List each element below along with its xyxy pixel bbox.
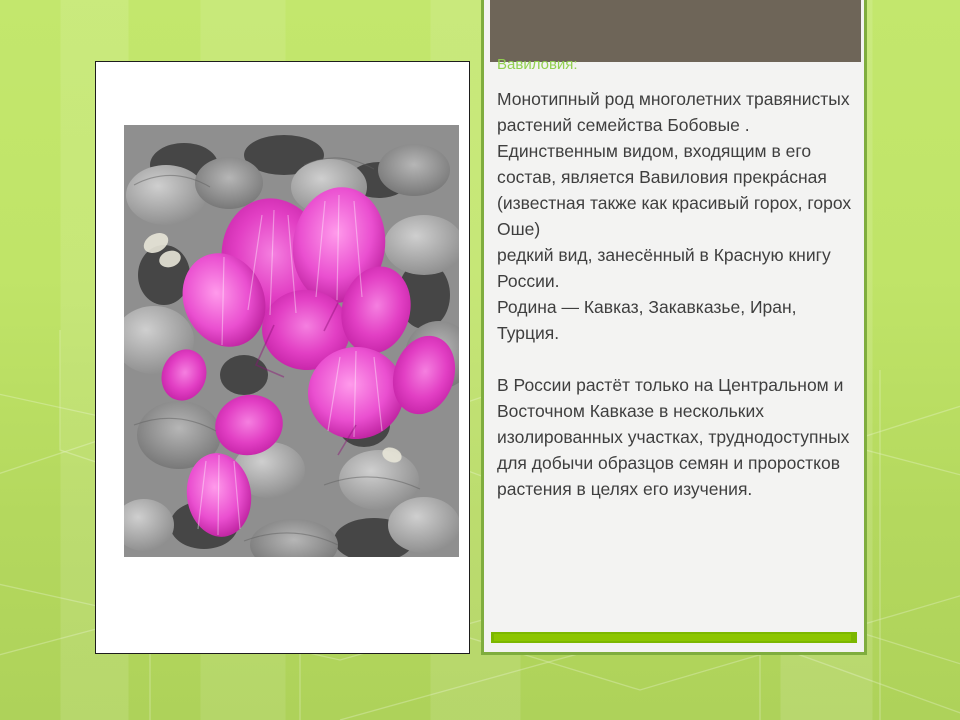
page-title: Вавиловия: bbox=[497, 56, 578, 73]
accent-bar-inner bbox=[494, 634, 851, 641]
slide-canvas: Вавиловия: Монотипный род многолетних тр… bbox=[0, 0, 960, 720]
vavilovia-photo bbox=[124, 125, 459, 557]
photo-card bbox=[95, 61, 470, 654]
paragraph-1: Монотипный род многолетних травянистых р… bbox=[497, 86, 855, 138]
paragraph-5: В России растёт только на Центральном и … bbox=[497, 372, 855, 502]
paragraph-2: Единственным видом, входящим в его соста… bbox=[497, 138, 855, 242]
paragraph-3: редкий вид, занесённый в Красную книгу Р… bbox=[497, 242, 855, 294]
paragraph-4: Родина — Кавказ, Закавказье, Иран, Турци… bbox=[497, 294, 855, 346]
accent-bar bbox=[491, 632, 857, 643]
panel-body-text: Монотипный род многолетних травянистых р… bbox=[497, 86, 855, 502]
text-panel: Вавиловия: Монотипный род многолетних тр… bbox=[481, 0, 867, 655]
panel-header-bar bbox=[490, 0, 861, 62]
